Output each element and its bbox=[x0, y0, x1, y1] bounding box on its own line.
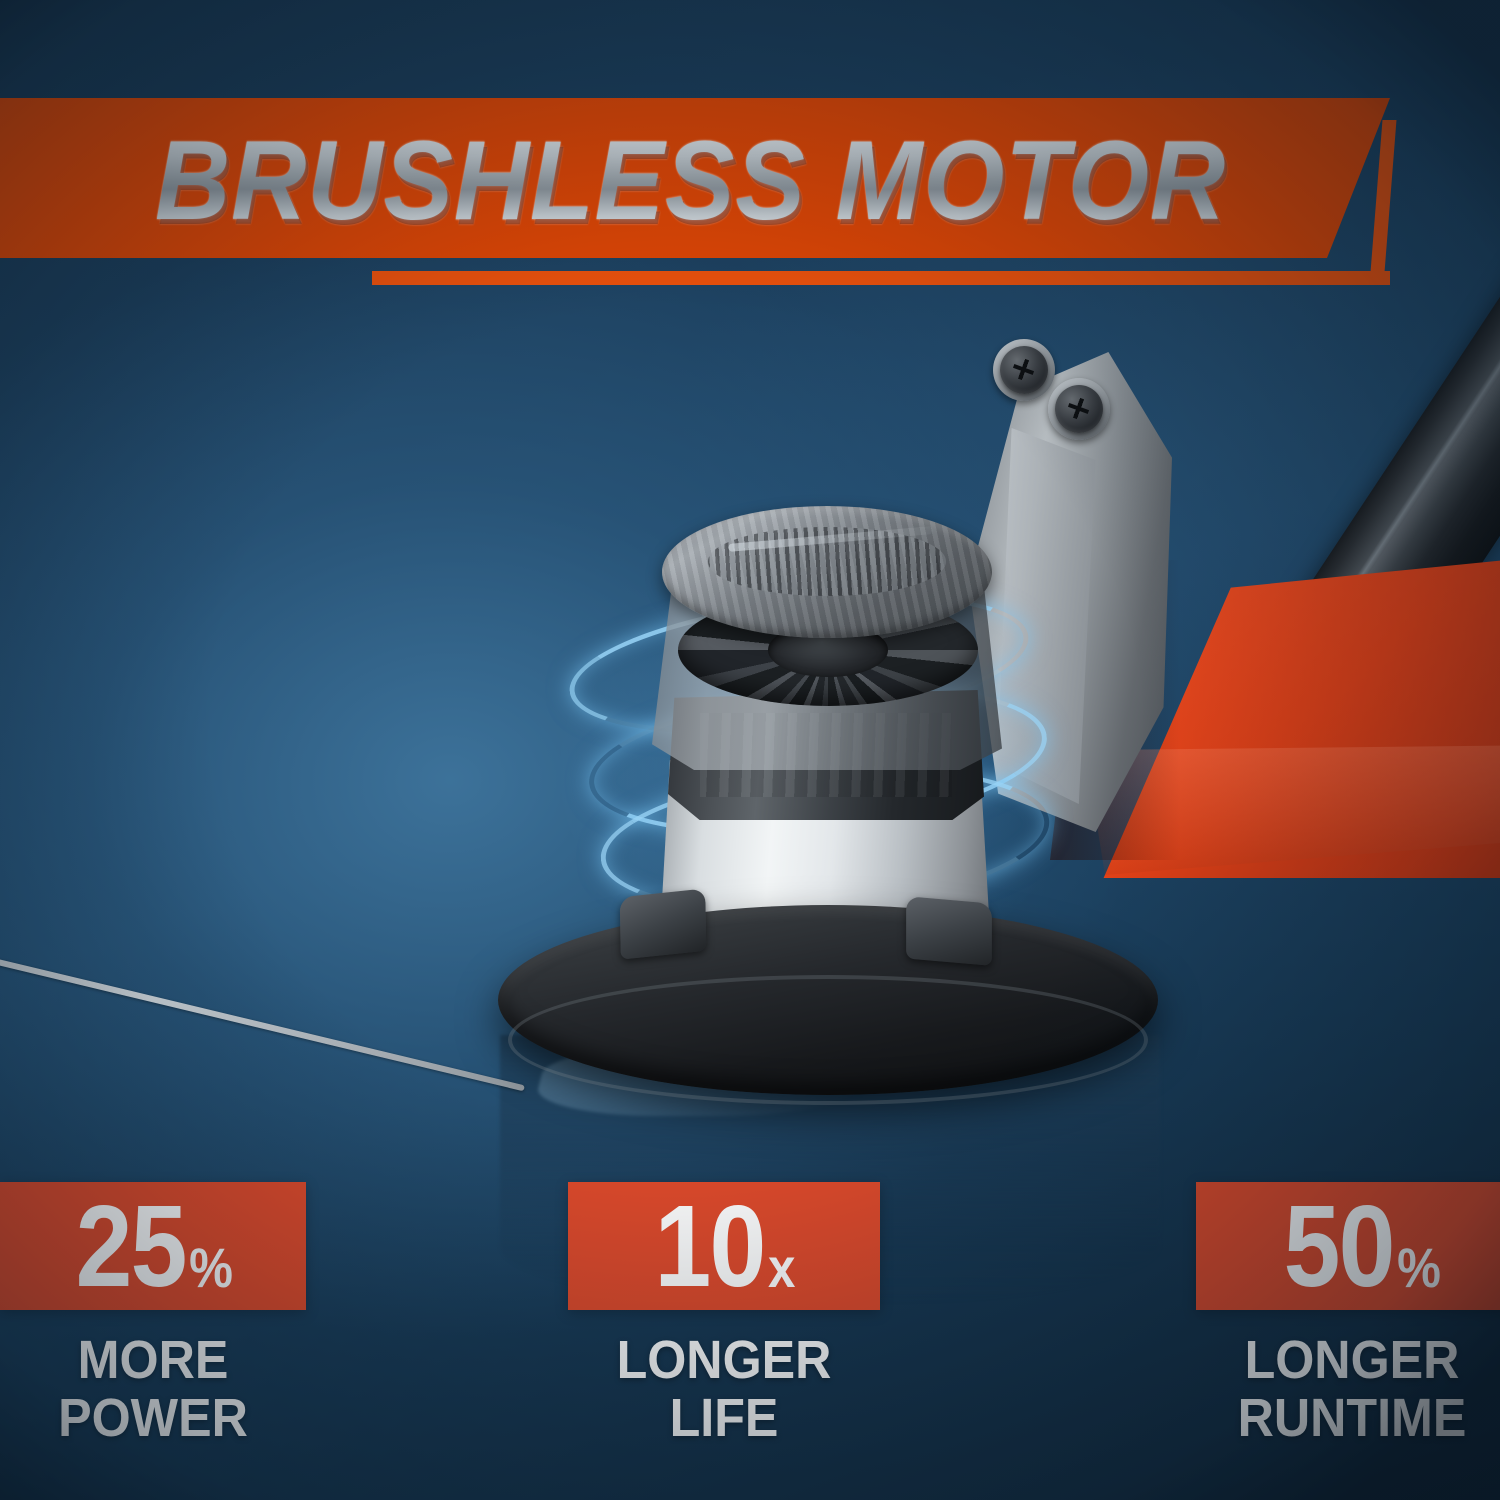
trimmer-cutting-line bbox=[0, 958, 525, 1091]
page-title: BRUSHLESS MOTOR bbox=[155, 108, 1318, 253]
torx-bolt-icon bbox=[1000, 346, 1048, 394]
stat-card-more-power: 25% MORE POWER bbox=[0, 1182, 306, 1448]
stat-number: 25 bbox=[75, 1188, 185, 1304]
stat-card-longer-life: 10x LONGER LIFE bbox=[568, 1182, 880, 1448]
stat-card-longer-runtime: 50% LONGER RUNTIME bbox=[1196, 1182, 1500, 1448]
promo-banner-canvas: BRUSHLESS MOTOR 25% MORE POWER 10x LONGE… bbox=[0, 0, 1500, 1500]
stat-number: 10 bbox=[654, 1188, 764, 1304]
stat-label: MORE POWER bbox=[11, 1332, 296, 1448]
stat-suffix: % bbox=[189, 1240, 231, 1304]
stat-label-line1: MORE bbox=[11, 1332, 296, 1390]
stat-label-line2: RUNTIME bbox=[1207, 1390, 1497, 1448]
motor-end-cap bbox=[662, 506, 992, 638]
stat-label: LONGER LIFE bbox=[579, 1332, 869, 1448]
stat-badge: 10x bbox=[568, 1182, 880, 1310]
spool-eyelet-tab bbox=[906, 896, 992, 966]
stats-row: 25% MORE POWER 10x LONGER LIFE 50% bbox=[0, 1182, 1500, 1500]
stat-label-line2: POWER bbox=[11, 1390, 296, 1448]
headline-underline-bar bbox=[372, 271, 1390, 285]
stat-label-line1: LONGER bbox=[1207, 1332, 1497, 1390]
stat-number-group: 10x bbox=[654, 1188, 793, 1304]
spool-eyelet-tab bbox=[620, 888, 707, 959]
stat-label: LONGER RUNTIME bbox=[1207, 1332, 1497, 1448]
stat-suffix: x bbox=[768, 1240, 794, 1304]
stat-badge: 25% bbox=[0, 1182, 306, 1310]
stat-label-line1: LONGER bbox=[579, 1332, 869, 1390]
stat-suffix: % bbox=[1397, 1240, 1439, 1304]
stat-label-line2: LIFE bbox=[579, 1390, 869, 1448]
stat-badge: 50% bbox=[1196, 1182, 1500, 1310]
stat-number-group: 25% bbox=[75, 1188, 231, 1304]
trimmer-spool-rim bbox=[508, 975, 1148, 1105]
torx-bolt-icon bbox=[1055, 385, 1103, 433]
stat-number: 50 bbox=[1283, 1188, 1393, 1304]
stat-number-group: 50% bbox=[1283, 1188, 1439, 1304]
